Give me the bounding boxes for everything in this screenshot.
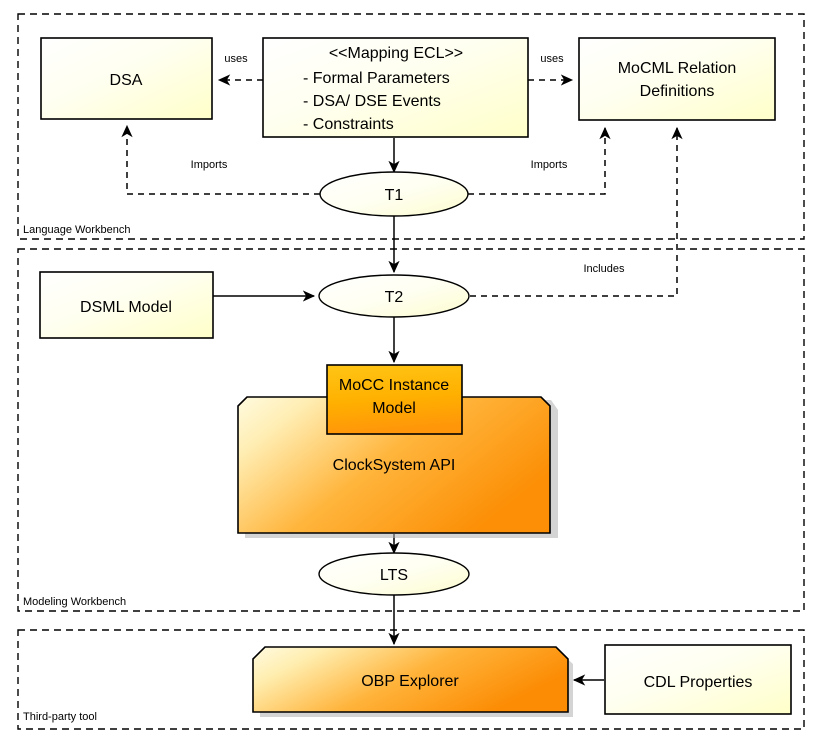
node-label-t2: T2 [385,289,404,306]
node-label-cdl-properties: CDL Properties [644,674,753,691]
node-label-obp-explorer: OBP Explorer [361,673,459,690]
edge-label-includes: Includes [584,263,625,275]
edge-mappingecl-uses-dsa: uses [219,53,263,80]
edge-t1-imports-mocml: Imports [468,128,605,194]
diagram-canvas: Language Workbench Modeling Workbench Th… [0,0,821,746]
node-label-mapping-ecl-title: <<Mapping ECL>> [329,45,463,62]
node-dsml-model[interactable]: DSML Model [40,272,213,338]
node-t2[interactable]: T2 [319,275,469,317]
node-label-mocc-line1: MoCC Instance [339,377,449,394]
node-lts[interactable]: LTS [319,553,469,595]
node-label-lts: LTS [380,567,408,584]
container-label-third-party-tool: Third-party tool [23,711,97,723]
edge-label-imports-right: Imports [531,159,568,171]
node-label-dsml-model: DSML Model [80,299,172,316]
node-label-mapping-ecl-item-0: - Formal Parameters [303,70,450,87]
node-mocml-relation-definitions[interactable]: MoCML Relation Definitions [579,38,775,120]
node-t1[interactable]: T1 [320,172,468,216]
node-label-mocc-line2: Model [372,400,416,417]
node-label-mocml-line2: Definitions [640,83,715,100]
edge-t2-includes-mocml: Includes [470,128,677,296]
node-mapping-ecl[interactable]: <<Mapping ECL>> - Formal Parameters - DS… [263,38,528,137]
node-label-mapping-ecl-item-2: - Constraints [303,116,394,133]
node-label-clocksystem-api: ClockSystem API [333,457,456,474]
edge-label-uses-left: uses [224,53,248,65]
architecture-diagram: Language Workbench Modeling Workbench Th… [0,0,821,746]
node-label-mocml-line1: MoCML Relation [618,60,737,77]
container-label-modeling-workbench: Modeling Workbench [23,596,126,608]
node-cdl-properties[interactable]: CDL Properties [605,645,791,714]
node-label-t1: T1 [385,187,404,204]
node-mocc-instance-model[interactable]: MoCC Instance Model [327,365,462,434]
node-dsa[interactable]: DSA [41,38,212,119]
edge-mappingecl-uses-mocml: uses [528,53,572,80]
node-obp-explorer[interactable]: OBP Explorer [253,647,573,717]
edge-label-imports-left: Imports [191,159,228,171]
node-label-dsa: DSA [110,72,143,89]
container-label-language-workbench: Language Workbench [23,224,130,236]
node-label-mapping-ecl-item-1: - DSA/ DSE Events [303,93,441,110]
edge-label-uses-right: uses [540,53,564,65]
